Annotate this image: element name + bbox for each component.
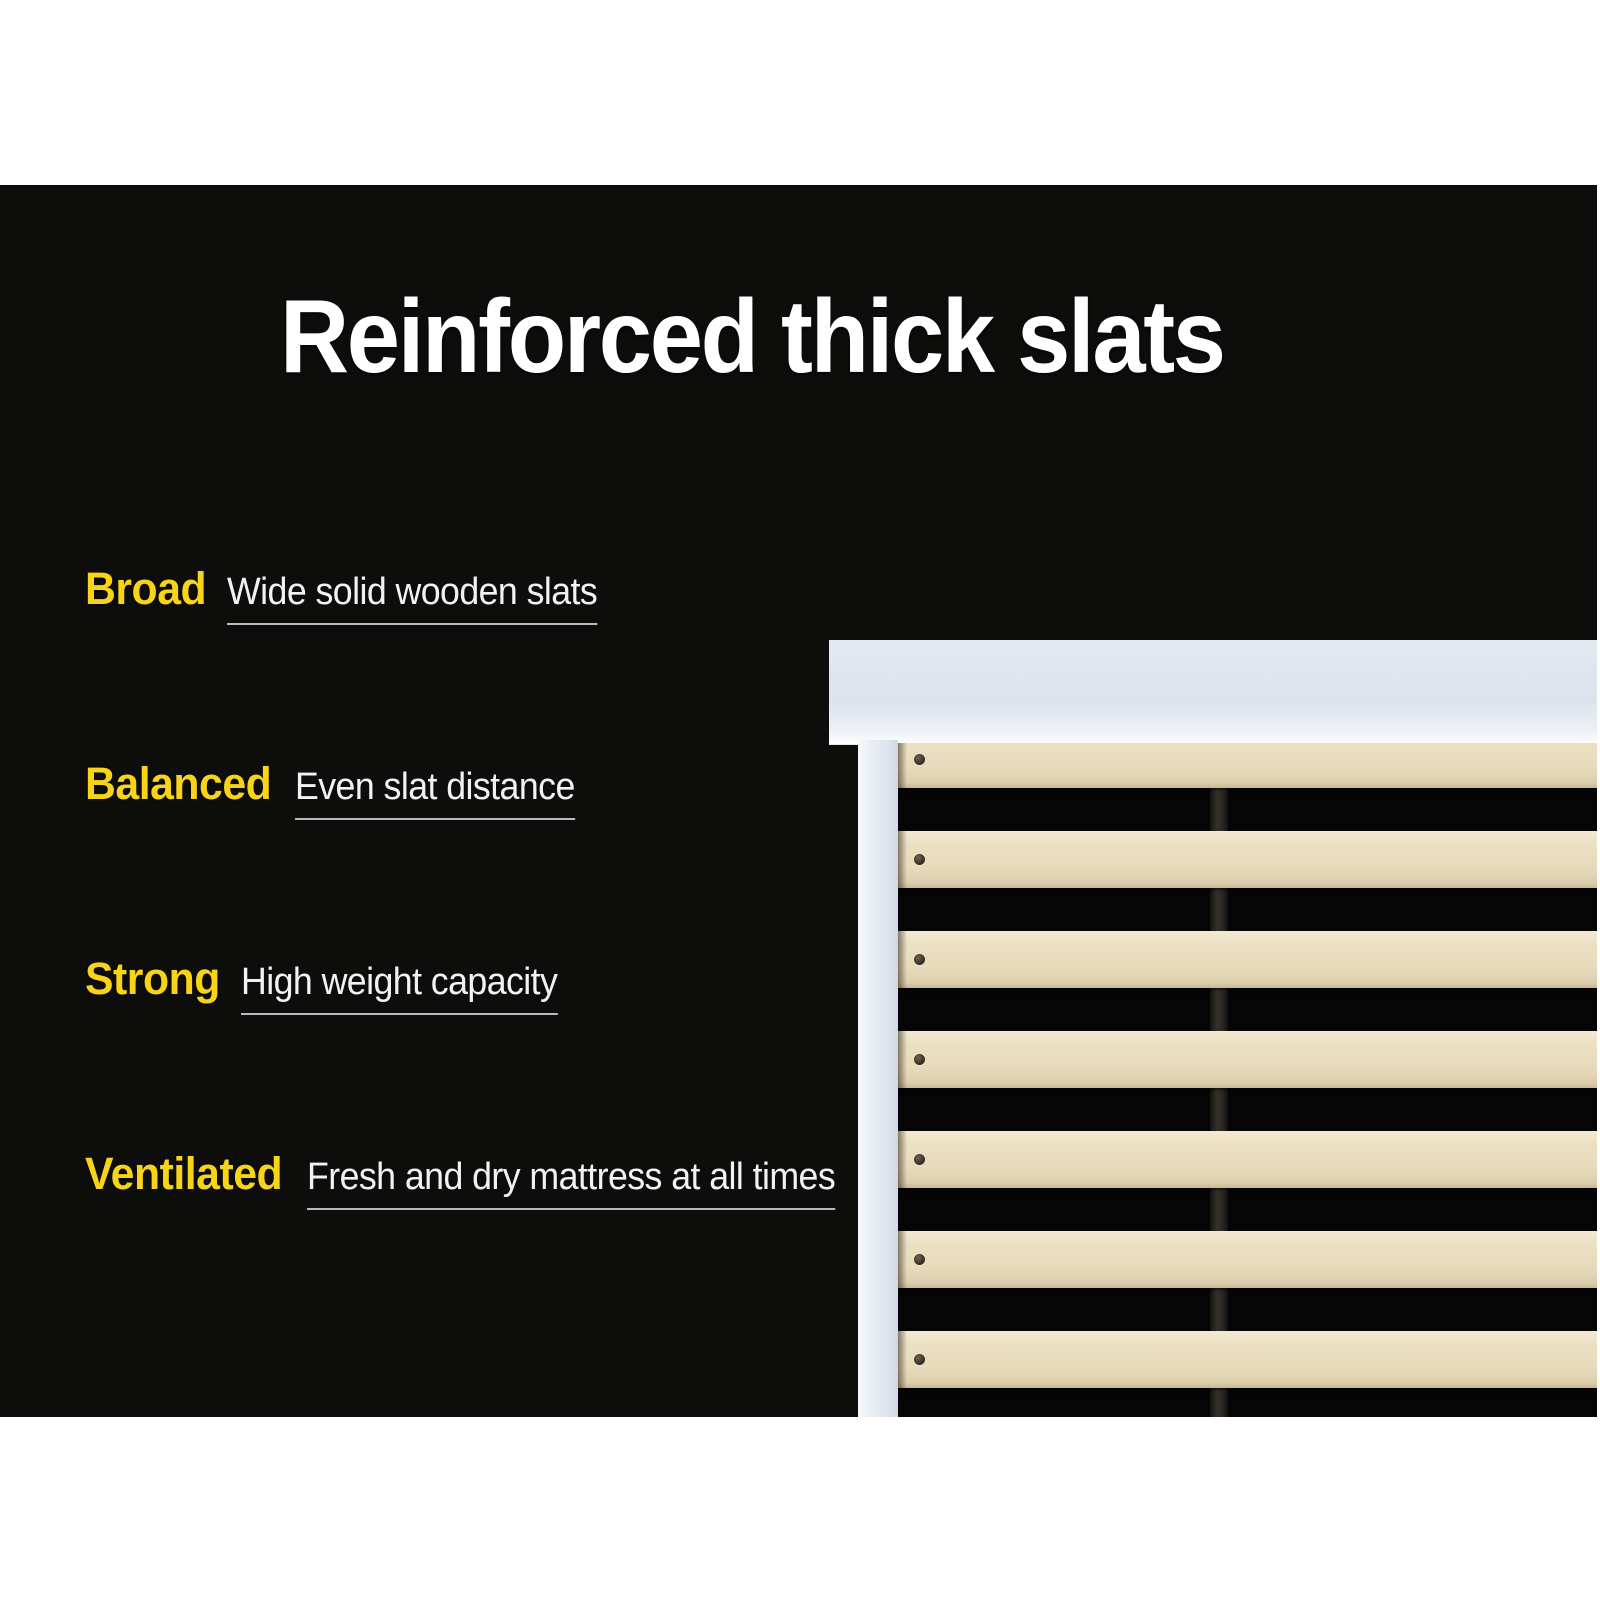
wooden-slat [898, 1131, 1597, 1188]
marketing-banner: Reinforced thick slats Broad Wide solid … [0, 0, 1600, 1600]
slat-screw [914, 1054, 925, 1065]
bed-frame-side-rail [858, 740, 898, 1417]
wooden-slat [898, 1031, 1597, 1088]
slat-deck [898, 743, 1597, 1417]
slat-edge-shadow [898, 743, 907, 788]
bed-frame-top-rail [829, 640, 1597, 744]
wooden-slat [898, 831, 1597, 888]
wooden-slat [898, 743, 1597, 788]
feature-label-balanced: Balanced [85, 760, 271, 808]
page-title: Reinforced thick slats [280, 282, 1255, 392]
slat-screw [914, 1254, 925, 1265]
slat-screw [914, 1154, 925, 1165]
feature-description-ventilated: Fresh and dry mattress at all times [307, 1156, 835, 1210]
slat-edge-shadow [898, 1031, 907, 1088]
slat-edge-shadow [898, 1331, 907, 1388]
hero-panel: Reinforced thick slats Broad Wide solid … [0, 185, 1597, 1417]
slat-edge-shadow [898, 831, 907, 888]
feature-label-ventilated: Ventilated [85, 1150, 282, 1198]
feature-list: Broad Wide solid wooden slats Balanced E… [85, 565, 825, 1345]
slat-screw [914, 1354, 925, 1365]
wooden-slat [898, 931, 1597, 988]
feature-row-broad: Broad Wide solid wooden slats [85, 565, 825, 760]
feature-label-strong: Strong [85, 955, 220, 1003]
wooden-slat [898, 1331, 1597, 1388]
feature-description-balanced: Even slat distance [295, 766, 575, 820]
product-photo-bed-slats [790, 430, 1597, 1417]
slat-screw [914, 854, 925, 865]
feature-description-broad: Wide solid wooden slats [227, 571, 597, 625]
slat-edge-shadow [898, 1231, 907, 1288]
feature-label-broad: Broad [85, 565, 206, 613]
feature-row-balanced: Balanced Even slat distance [85, 760, 825, 955]
slat-screw [914, 754, 925, 765]
feature-row-ventilated: Ventilated Fresh and dry mattress at all… [85, 1150, 825, 1345]
feature-row-strong: Strong High weight capacity [85, 955, 825, 1150]
wooden-slat [898, 1231, 1597, 1288]
feature-description-strong: High weight capacity [241, 961, 557, 1015]
slat-screw [914, 954, 925, 965]
slat-edge-shadow [898, 1131, 907, 1188]
slat-edge-shadow [898, 931, 907, 988]
